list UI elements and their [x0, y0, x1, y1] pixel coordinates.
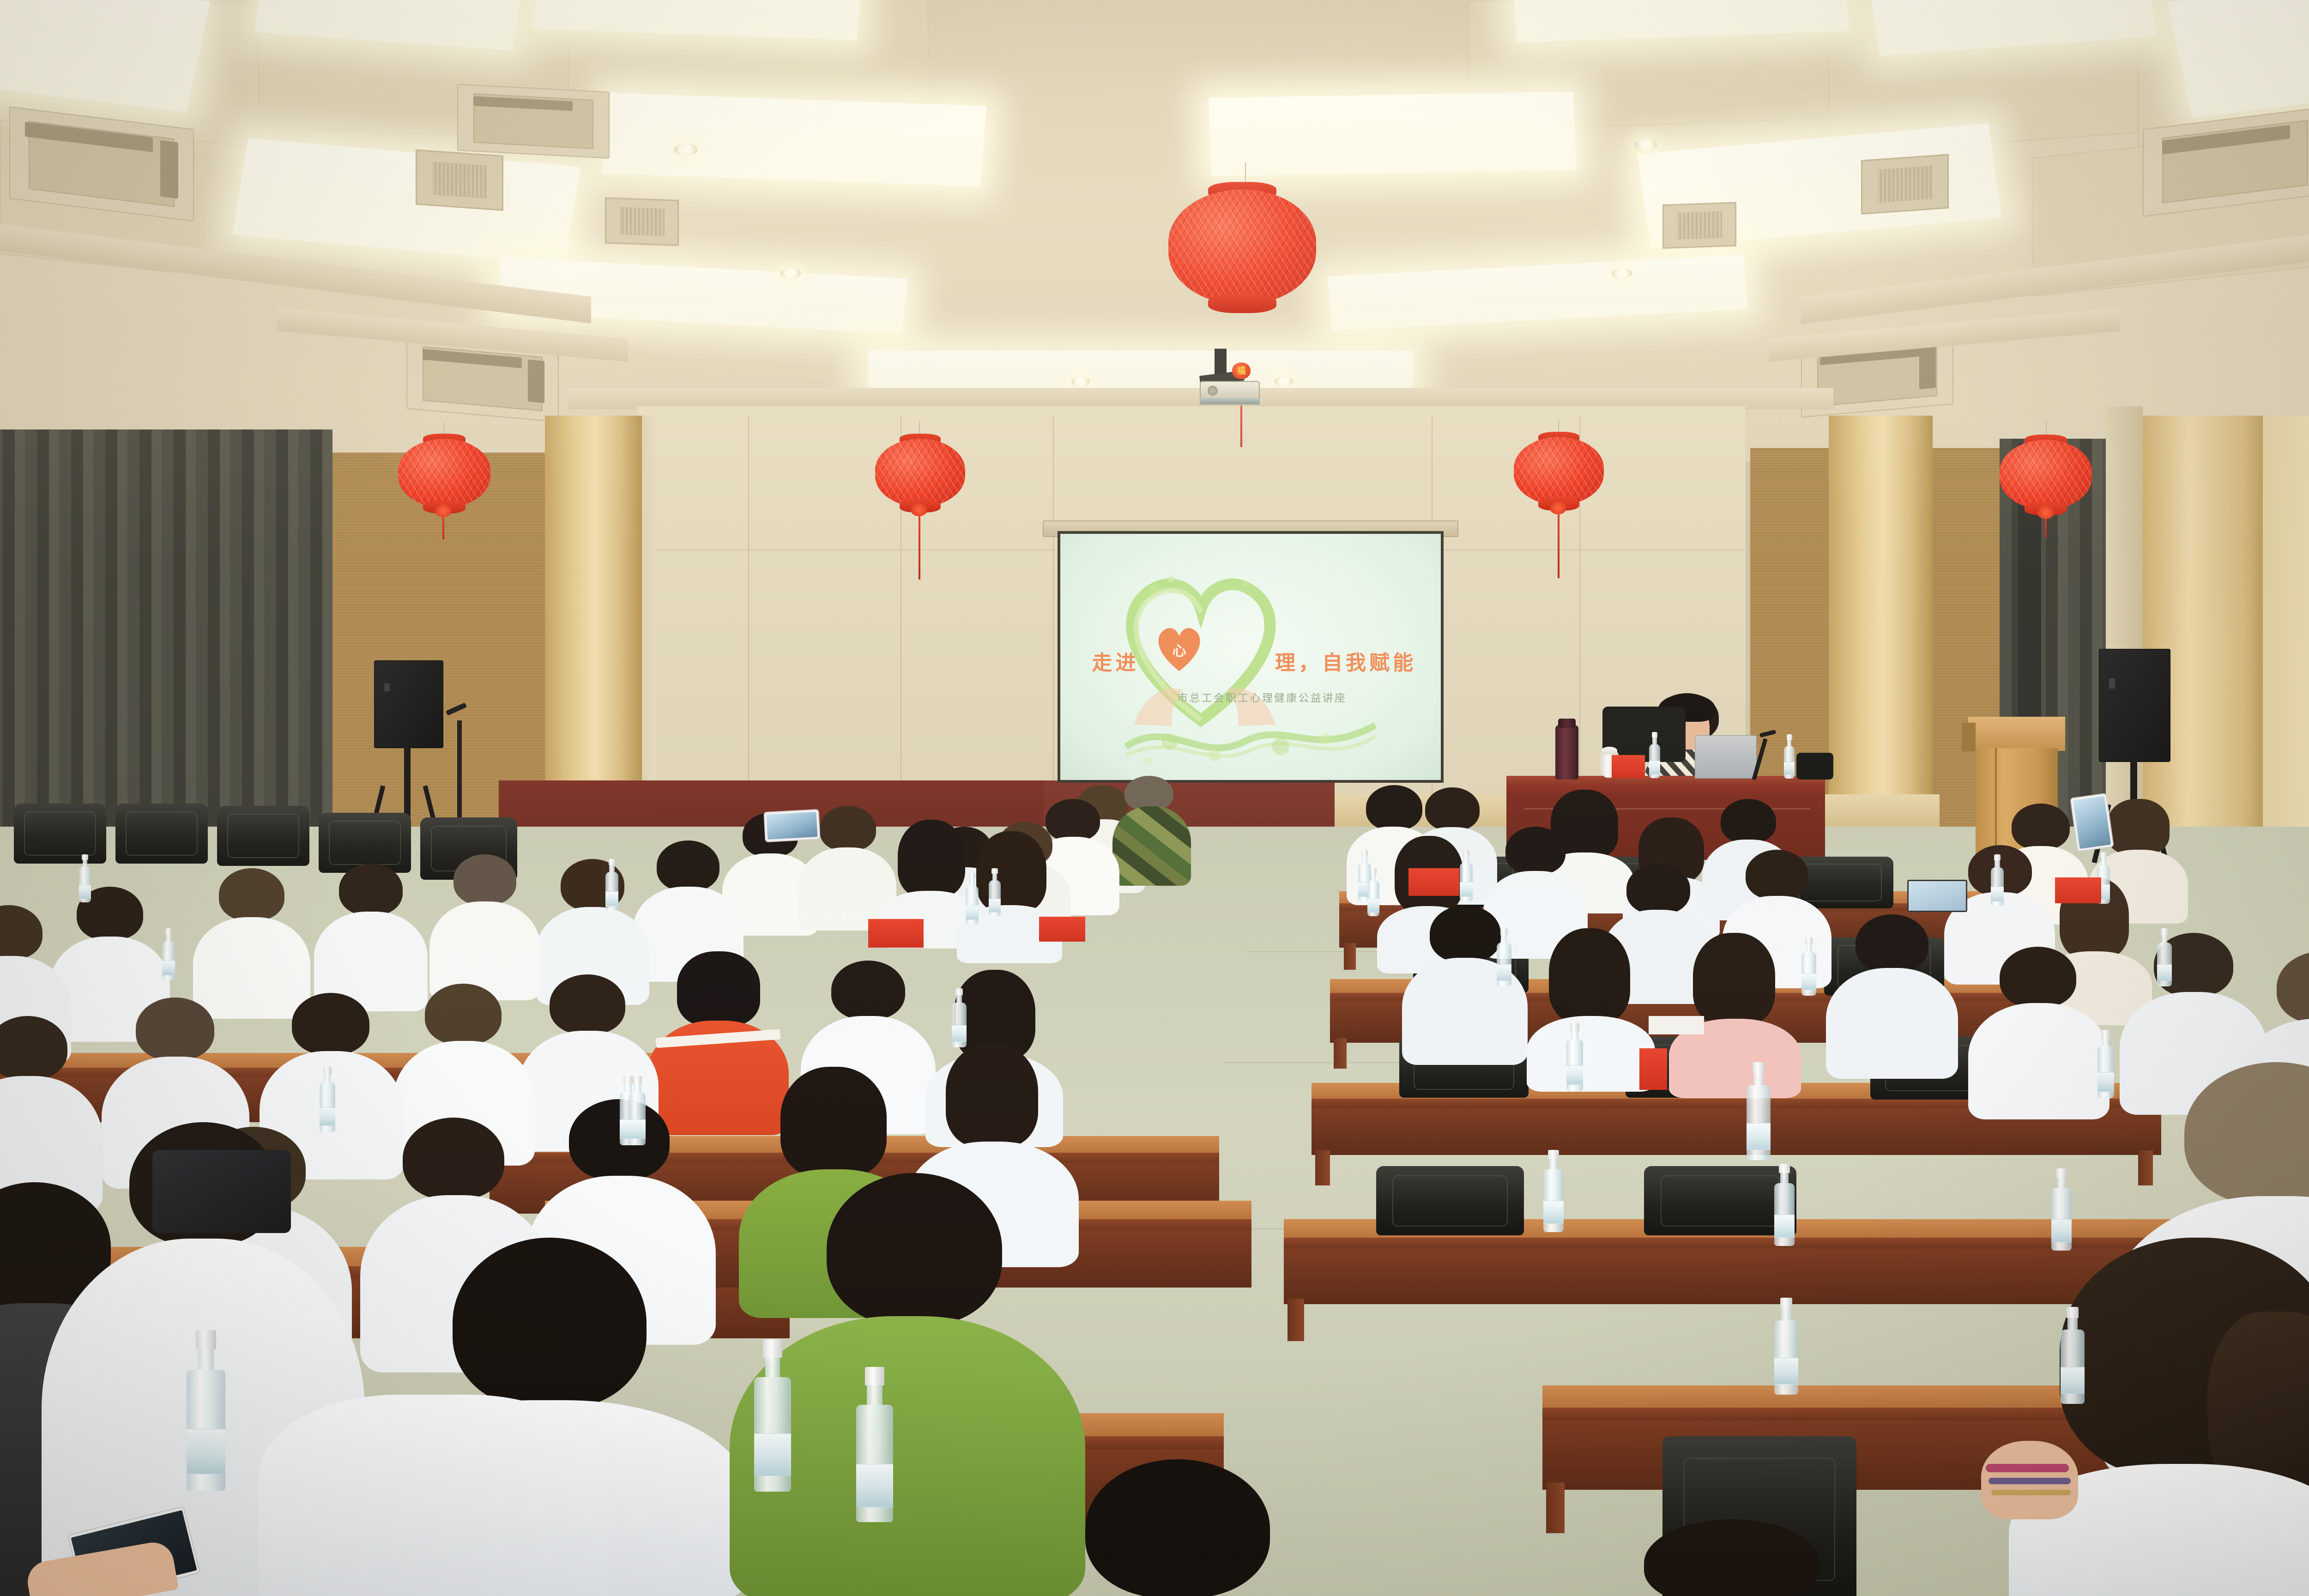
water-bottle	[1649, 732, 1661, 778]
chair	[1376, 1166, 1524, 1235]
water-bottle	[628, 1076, 647, 1145]
bracelet	[1991, 1490, 2071, 1495]
water-bottle	[2157, 928, 2172, 986]
column	[545, 416, 642, 831]
audience-person	[0, 1016, 88, 1210]
head-table-top	[1506, 776, 1825, 786]
air-conditioner-unit	[457, 84, 610, 158]
head-table-chair	[1796, 753, 1833, 780]
water-bottle	[2050, 1168, 2073, 1251]
projector-mount-arm	[1215, 349, 1227, 376]
audience-person-foreground	[1616, 1519, 1847, 1596]
ceiling-vent	[605, 197, 679, 246]
water-bottle	[951, 988, 967, 1047]
audience-person	[1838, 914, 1946, 1074]
projector-fu-charm: 福	[1232, 363, 1251, 379]
water-bottle	[2060, 1307, 2085, 1404]
audience-person-camouflage	[1115, 776, 1180, 882]
lantern-charm	[2037, 506, 2054, 519]
water-bottle	[1542, 1150, 1565, 1232]
ceiling-vent	[416, 149, 503, 211]
downlight	[780, 268, 801, 279]
red-paper-lantern	[1168, 189, 1316, 305]
lectern-side	[1962, 723, 1976, 751]
chair	[217, 806, 309, 866]
name-card	[1639, 1048, 1667, 1090]
smartphone[interactable]	[2070, 793, 2114, 852]
red-paper-lantern	[2000, 440, 2092, 510]
water-bottle	[185, 1330, 227, 1491]
ceiling-light-panel	[1209, 91, 1576, 176]
audience-person-foreground-green	[767, 1173, 1048, 1596]
water-bottle	[1746, 1062, 1771, 1160]
ceiling-light-panel	[868, 351, 1413, 393]
water-bottle	[1459, 850, 1473, 901]
thermos	[1555, 725, 1578, 780]
water-bottle	[1783, 734, 1795, 779]
water-bottle	[605, 859, 619, 911]
lantern-charm	[1550, 502, 1566, 514]
water-bottle	[79, 854, 91, 902]
lantern-tassel	[919, 506, 920, 580]
water-bottle	[1367, 868, 1380, 916]
downlight	[674, 143, 697, 156]
column	[1829, 416, 1933, 845]
water-bottle	[162, 928, 175, 980]
projector-base	[1200, 398, 1260, 405]
bracelet	[1989, 1478, 2071, 1484]
name-card	[1612, 755, 1645, 778]
notebook	[1649, 1016, 1704, 1034]
audience-person	[323, 864, 418, 1004]
ceiling-vent	[1662, 202, 1736, 249]
smartphone-camera[interactable]	[763, 809, 820, 842]
name-card	[868, 919, 924, 948]
water-bottle	[319, 1067, 336, 1132]
downlight	[1612, 268, 1632, 279]
name-card	[2055, 877, 2101, 903]
water-bottle	[854, 1367, 895, 1522]
bracelet	[1986, 1464, 2069, 1472]
water-bottle	[965, 873, 979, 925]
red-paper-lantern	[875, 439, 965, 507]
name-card	[1408, 868, 1459, 896]
audience-person	[203, 868, 300, 1011]
projection-screen: 心 走进 理，自我赋能 市总工会职工心理健康公益讲座	[1060, 534, 1441, 780]
red-paper-lantern	[1514, 437, 1604, 505]
water-bottle	[1566, 1023, 1584, 1091]
slide-subtitle: 市总工会职工心理健康公益讲座	[1072, 689, 1452, 705]
audience-person	[1981, 947, 2097, 1113]
ceiling-light-panel	[602, 93, 986, 187]
audience-person-pink	[1681, 933, 1789, 1092]
ceiling-vent	[1861, 154, 1949, 214]
loudspeaker	[2099, 649, 2170, 762]
downlight	[1635, 139, 1657, 151]
water-bottle	[753, 1339, 792, 1492]
audience-person	[439, 854, 531, 993]
chair	[115, 804, 208, 864]
audience-person-foreground	[1058, 1459, 1298, 1596]
charm-tassel	[1240, 405, 1242, 447]
slide-title-right: 理，自我赋能	[1155, 646, 1536, 676]
water-bottle	[1496, 928, 1512, 986]
ceiling-light-panel	[2167, 0, 2309, 117]
column	[2263, 416, 2309, 877]
projection-screen-frame: 心 走进 理，自我赋能 市总工会职工心理健康公益讲座	[1058, 531, 1444, 783]
bag	[152, 1150, 291, 1233]
downlight	[1071, 376, 1090, 387]
lantern-tassel	[1558, 504, 1559, 578]
water-bottle	[1773, 1164, 1795, 1246]
red-paper-lantern	[398, 439, 490, 508]
audience-person-foreground	[259, 1395, 610, 1596]
window-curtain	[0, 429, 332, 854]
laptop	[1695, 735, 1757, 779]
water-bottle	[988, 868, 1001, 916]
loudspeaker	[374, 660, 443, 748]
water-bottle	[1773, 1298, 1799, 1395]
audience-person	[1538, 928, 1644, 1085]
water-bottle	[1801, 937, 1817, 996]
name-card	[1039, 917, 1085, 942]
water-bottle	[1990, 854, 2004, 906]
lectern-seam	[1995, 748, 1997, 859]
ceiling-projector	[1200, 381, 1260, 400]
lantern-charm	[911, 503, 927, 516]
audience-person-foreground-ponytail	[1990, 1247, 2309, 1596]
tablet-device[interactable]	[1907, 880, 1967, 912]
water-bottle	[2097, 1030, 2115, 1098]
lantern-charm	[435, 504, 452, 517]
conference-hall-photo: 心 走进 理，自我赋能 市总工会职工心理健康公益讲座 福	[0, 0, 2309, 1596]
chair	[14, 804, 106, 864]
downlight	[1275, 376, 1293, 387]
lectern-top	[1968, 717, 2065, 751]
